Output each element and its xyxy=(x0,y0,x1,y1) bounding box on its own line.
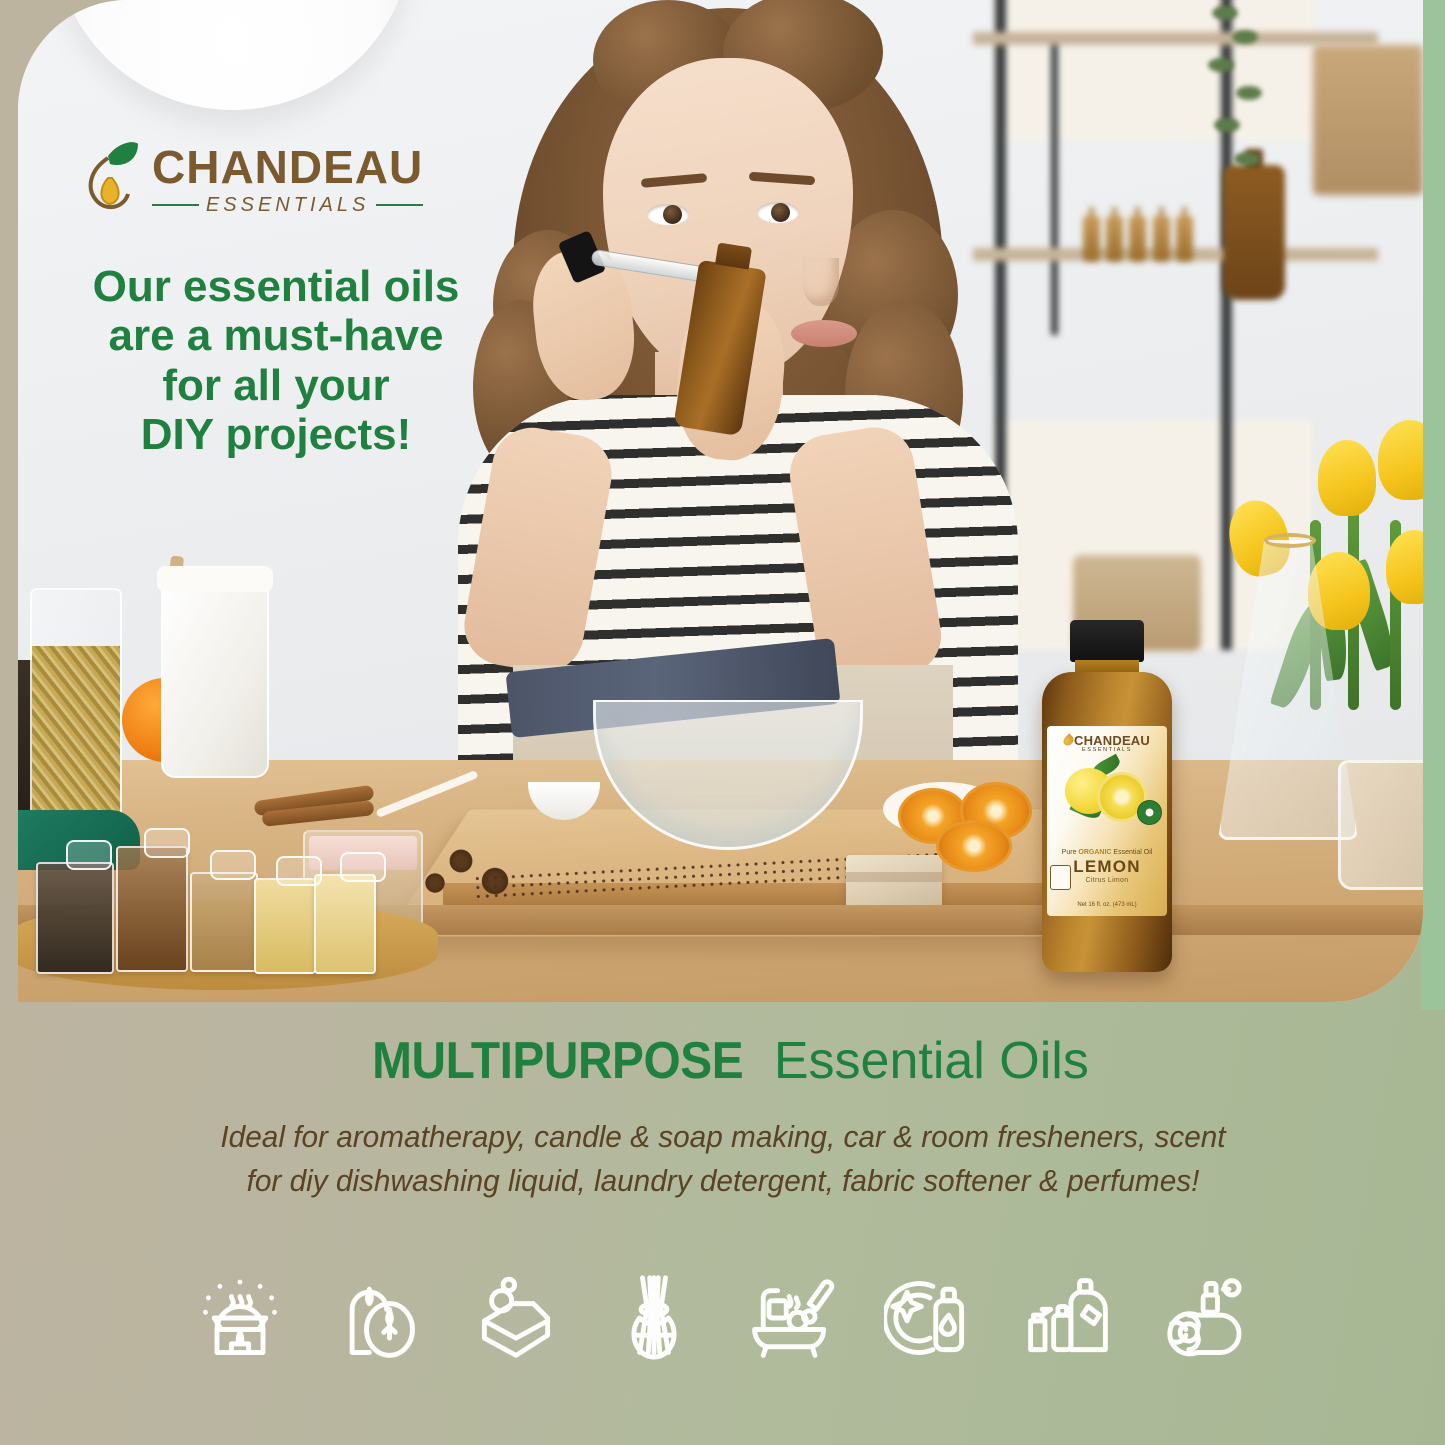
reed-diffuser-icon xyxy=(606,1270,702,1366)
brand-tagline: ESSENTIALS xyxy=(206,194,369,217)
secondary-certification-badge xyxy=(1050,865,1071,890)
label-descriptor: Pure ORGANIC Essential Oil xyxy=(1047,849,1167,856)
poster-frame: CHANDEAU ESSENTIALS Our essential oils a… xyxy=(0,0,1445,1445)
brand-name: CHANDEAU xyxy=(152,144,423,190)
tulip xyxy=(1318,440,1376,516)
label-net-volume: Net 16 fl. oz. (473 mL) xyxy=(1047,902,1167,908)
oil-burner-icon xyxy=(192,1270,288,1366)
right-green-edge xyxy=(1421,0,1445,1010)
product-bottle: CHANDEAU ESSENTIALS Pure ORGANIC Essenti… xyxy=(1026,620,1186,980)
background-paper-bag xyxy=(1313,45,1423,195)
bottom-title: MULTIPURPOSE Essential Oils xyxy=(0,1034,1445,1089)
headline-line-1: Our essential oils xyxy=(66,262,486,311)
spice-jar xyxy=(36,862,114,974)
candle-icon xyxy=(330,1270,426,1366)
carafe-gold-rim xyxy=(1264,533,1316,548)
hero-photo: CHANDEAU ESSENTIALS Our essential oils a… xyxy=(18,0,1423,1002)
hero-headline: Our essential oils are a must-have for a… xyxy=(66,262,486,459)
detergent-bottles-icon xyxy=(1020,1270,1116,1366)
dishwashing-liquid-icon xyxy=(882,1270,978,1366)
bottom-description: Ideal for aromatherapy, candle & soap ma… xyxy=(89,1115,1356,1203)
candle-jar xyxy=(314,874,376,974)
usda-organic-seal xyxy=(1137,800,1162,825)
headline-line-2: are a must-have xyxy=(66,311,486,360)
milk-jar xyxy=(161,578,269,778)
tall-grain-jar xyxy=(30,588,122,848)
description-line-2: for diy dishwashing liquid, laundry dete… xyxy=(89,1159,1356,1203)
dried-orange-slice xyxy=(936,820,1012,872)
bath-dropper-icon xyxy=(744,1270,840,1366)
description-line-1: Ideal for aromatherapy, candle & soap ma… xyxy=(89,1115,1356,1159)
perfume-bottle-icon xyxy=(1158,1270,1254,1366)
background-vine xyxy=(1206,0,1276,215)
soap-bar-icon xyxy=(468,1270,564,1366)
bottom-title-bold: MULTIPURPOSE xyxy=(372,1034,743,1089)
bottle-label: CHANDEAU ESSENTIALS Pure ORGANIC Essenti… xyxy=(1047,726,1167,916)
brand-logo: CHANDEAU ESSENTIALS xyxy=(78,138,423,222)
headline-line-4: DIY projects! xyxy=(66,410,486,459)
label-brand: CHANDEAU xyxy=(1047,733,1167,748)
bottle-cap xyxy=(1070,620,1144,662)
leaf-droplet-icon xyxy=(78,138,142,222)
woman-with-oil-bottle xyxy=(473,0,993,760)
spice-jar xyxy=(116,846,188,972)
headline-line-3: for all your xyxy=(66,361,486,410)
glass-vase xyxy=(1338,760,1423,890)
use-case-icon-row xyxy=(0,1270,1445,1366)
bottom-title-light: Essential Oils xyxy=(774,1032,1089,1090)
bottom-info-panel: MULTIPURPOSE Essential Oils Ideal for ar… xyxy=(0,1002,1445,1445)
spice-jar xyxy=(190,872,258,972)
candle-jar xyxy=(254,878,316,974)
